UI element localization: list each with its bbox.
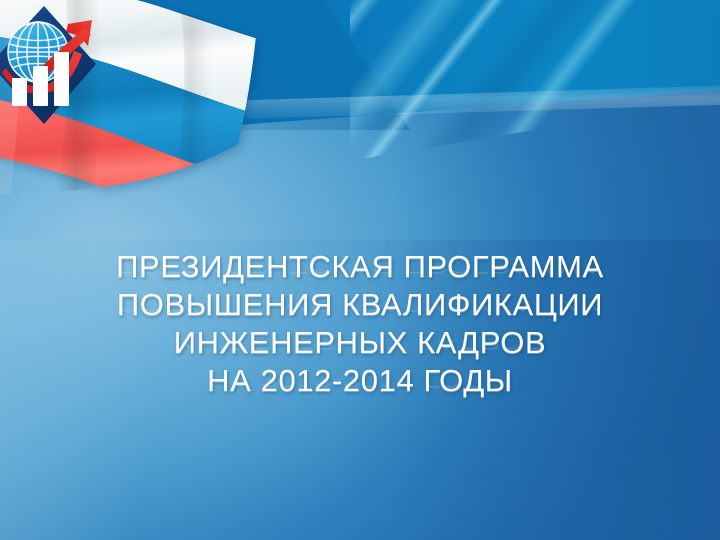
program-emblem <box>0 2 108 130</box>
slide-title: ПРЕЗИДЕНТСКАЯ ПРОГРАММА ПОВЫШЕНИЯ КВАЛИФ… <box>0 248 720 400</box>
title-line-3: ИНЖЕНЕРНЫХ КАДРОВ <box>0 324 720 362</box>
title-line-1: ПРЕЗИДЕНТСКАЯ ПРОГРАММА <box>0 248 720 286</box>
title-line-2: ПОВЫШЕНИЯ КВАЛИФИКАЦИИ <box>0 286 720 324</box>
presentation-slide: ПРЕЗИДЕНТСКАЯ ПРОГРАММА ПОВЫШЕНИЯ КВАЛИФ… <box>0 0 720 540</box>
title-line-4: НА 2012-2014 ГОДЫ <box>0 362 720 400</box>
